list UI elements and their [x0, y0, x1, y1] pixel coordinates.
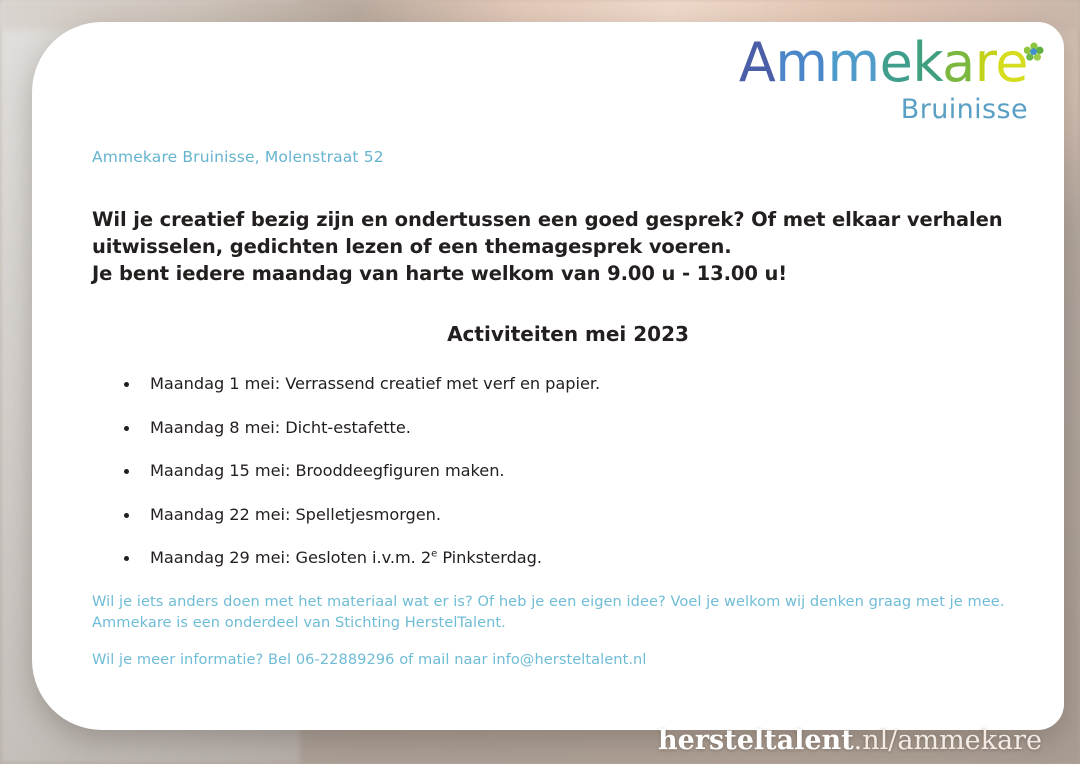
flower-icon [1024, 42, 1044, 62]
content-card: Ammekare Bruinisse Ammekare Bruinisse, M… [32, 22, 1064, 730]
website-url-path: .nl/ammekare [854, 725, 1042, 756]
list-item: Maandag 22 mei: Spelletjesmorgen. [110, 505, 990, 524]
activities-list: Maandag 1 mei: Verrassend creatief met v… [110, 374, 990, 592]
logo-letter-6: r [975, 31, 996, 94]
list-item: Maandag 8 mei: Dicht-estafette. [110, 418, 990, 437]
footer-note-line-1: Wil je iets anders doen met het materiaa… [92, 593, 1005, 610]
intro-line-3: Je bent iedere maandag van harte welkom … [92, 262, 787, 285]
footer-note-line-2: Ammekare is een onderdeel van Stichting … [92, 614, 506, 631]
activity-text: Maandag 29 mei: Gesloten i.v.m. 2 [150, 548, 431, 567]
list-item: Maandag 15 mei: Brooddeegfiguren maken. [110, 461, 990, 480]
logo-letter-1: m [775, 31, 827, 94]
brand-logo-subtitle: Bruinisse [739, 96, 1028, 123]
footer-note: Wil je iets anders doen met het materiaa… [92, 592, 1042, 633]
list-item: Maandag 1 mei: Verrassend creatief met v… [110, 374, 990, 393]
activity-text: Maandag 8 mei: Dicht-estafette. [150, 418, 411, 437]
brand-logo-wordmark: Ammekare [739, 36, 1028, 90]
activity-text: Maandag 22 mei: Spelletjesmorgen. [150, 505, 441, 524]
logo-letter-3: e [880, 31, 913, 94]
logo-letter-4: k [912, 31, 942, 94]
activities-title: Activiteiten mei 2023 [32, 322, 1064, 346]
activity-text: Maandag 15 mei: Brooddeegfiguren maken. [150, 461, 505, 480]
website-url: hersteltalent.nl/ammekare [658, 725, 1042, 756]
logo-letter-2: m [827, 31, 879, 94]
activity-text: Maandag 1 mei: Verrassend creatief met v… [150, 374, 600, 393]
content-card-inner: Ammekare Bruinisse Ammekare Bruinisse, M… [32, 22, 1064, 730]
intro-paragraph: Wil je creatief bezig zijn en ondertusse… [92, 207, 1032, 288]
footer-contact: Wil je meer informatie? Bel 06-22889296 … [92, 651, 646, 668]
website-url-domain: hersteltalent [658, 725, 854, 756]
activity-text-after: Pinksterdag. [437, 548, 542, 567]
logo-letter-0: A [739, 31, 775, 94]
venue-address: Ammekare Bruinisse, Molenstraat 52 [92, 148, 384, 166]
brand-logo: Ammekare Bruinisse [739, 36, 1028, 123]
intro-line-2: gedichten lezen of een themagesprek voer… [230, 235, 732, 258]
logo-letter-7: e [995, 31, 1028, 94]
logo-letter-5: a [942, 31, 975, 94]
list-item: Maandag 29 mei: Gesloten i.v.m. 2e Pinks… [110, 548, 990, 567]
